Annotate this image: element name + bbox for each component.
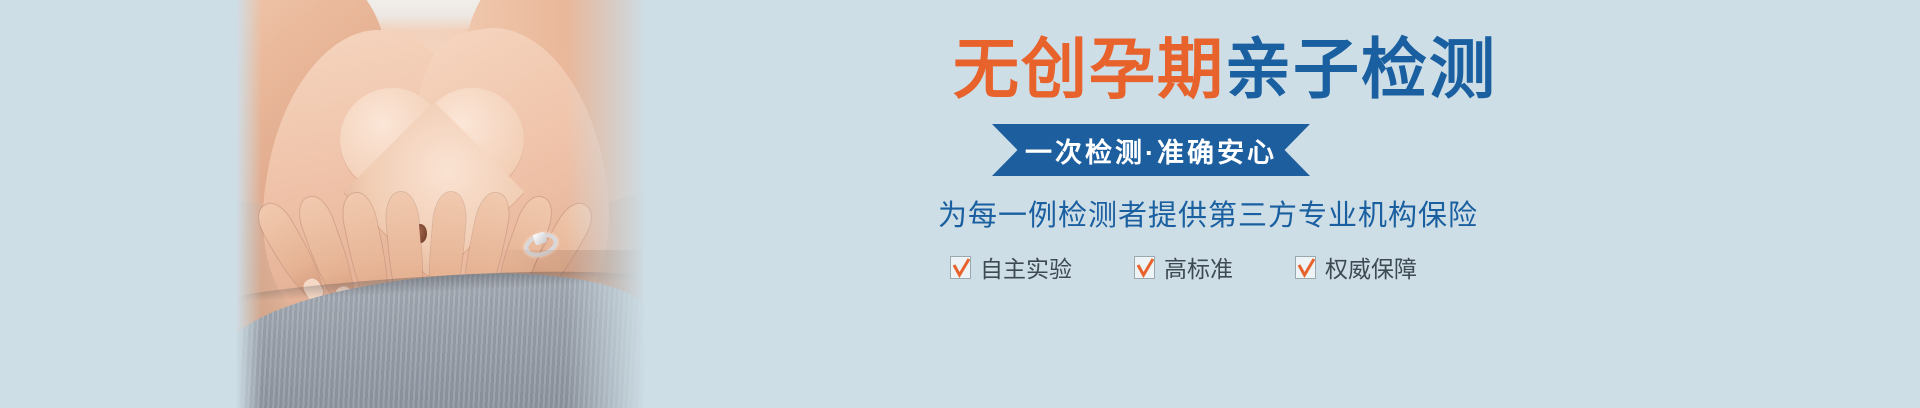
page-title: 无创孕期亲子检测 bbox=[953, 36, 1497, 102]
tagline-ribbon: 一次检测·准确安心 bbox=[992, 124, 1310, 176]
feature-label: 自主实验 bbox=[980, 250, 1072, 284]
feature-item-self-lab: 自主实验 bbox=[950, 250, 1072, 284]
feature-label: 权威保障 bbox=[1325, 250, 1417, 284]
tagline-text: 一次检测·准确安心 bbox=[1025, 131, 1277, 170]
promo-banner: 无创孕期亲子检测 一次检测·准确安心 为每一例检测者提供第三方专业机构保险 自主… bbox=[0, 0, 1920, 408]
subtitle: 为每一例检测者提供第三方专业机构保险 bbox=[938, 192, 1478, 234]
checkbox-checked-icon bbox=[1295, 256, 1316, 279]
feature-item-authoritative: 权威保障 bbox=[1295, 250, 1417, 284]
feature-item-high-standard: 高标准 bbox=[1134, 250, 1233, 284]
feature-list: 自主实验 高标准 权威保障 bbox=[950, 250, 1417, 284]
promo-text-block: 无创孕期亲子检测 一次检测·准确安心 为每一例检测者提供第三方专业机构保险 自主… bbox=[760, 0, 1400, 408]
feature-label: 高标准 bbox=[1164, 250, 1233, 284]
headline-blue-part: 亲子检测 bbox=[1225, 32, 1497, 106]
pregnancy-photo bbox=[236, 0, 646, 408]
headline-orange-part: 无创孕期 bbox=[953, 32, 1225, 106]
checkbox-checked-icon bbox=[1134, 256, 1155, 279]
checkbox-checked-icon bbox=[950, 256, 971, 279]
